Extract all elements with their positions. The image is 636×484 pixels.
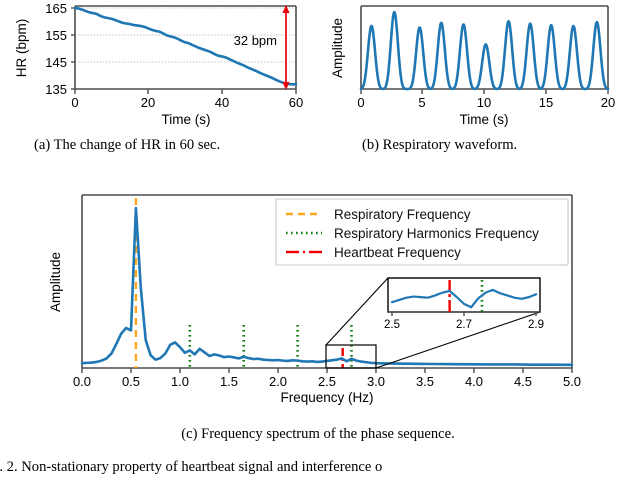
panel-c-inset-connector-left [326,278,388,345]
panel-a-annotation-label: 32 bpm [234,33,277,48]
panel-c-xaxis-label: Frequency (Hz) [280,390,373,405]
panel-b-xaxis-label: Time (s) [460,112,509,127]
panel-c-xtick-2: 1.0 [171,374,189,389]
panel-c-inset: 2.5 2.7 2.9 [384,278,544,331]
panel-a-ytick-155: 155 [45,28,67,43]
panel-a-axes [71,6,296,94]
panel-c-xtick-1: 0.5 [122,374,140,389]
panel-b-respiration-curve [361,12,608,89]
panel-a-hr-change: 165 155 145 135 0 20 40 60 Time (s) HR (… [0,0,312,128]
panel-c-yaxis-label: Amplitude [48,252,63,312]
panel-c-xtick-3: 1.5 [220,374,238,389]
panel-a-xtick-60: 60 [289,95,303,110]
panel-a-svg: 165 155 145 135 0 20 40 60 Time (s) HR (… [0,0,312,128]
caption-panel-c: (c) Frequency spectrum of the phase sequ… [60,425,576,444]
panel-c-xtick-10: 5.0 [563,374,581,389]
panel-b-svg: 0 5 10 15 20 Time (s) Amplitude [318,0,636,128]
panel-a-ytick-145: 145 [45,55,67,70]
panel-a-xtick-40: 40 [215,95,229,110]
inset-xtick-25: 2.5 [384,319,400,331]
panel-c-xtick-4: 2.0 [269,374,287,389]
panel-b-xtick-5: 5 [418,95,425,110]
panel-a-yaxis-label: HR (bpm) [14,19,29,78]
legend-label-respiratory: Respiratory Frequency [334,207,471,222]
caption-panel-a: (a) The change of HR in 60 sec. [34,136,242,155]
inset-xtick-27: 2.7 [456,319,472,331]
panel-b-xtick-20: 20 [601,95,615,110]
panel-c-xtick-7: 3.5 [416,374,434,389]
panel-c-xtick-8: 4.0 [465,374,483,389]
panel-a-xaxis-label: Time (s) [162,112,211,127]
panel-c-xtick-0: 0.0 [73,374,91,389]
panel-a-xtick-0: 0 [71,95,78,110]
panel-b-xtick-10: 10 [477,95,491,110]
panel-c-xtick-6: 3.0 [367,374,385,389]
inset-xtick-29: 2.9 [528,319,544,331]
inset-frame [388,278,540,312]
panel-a-xtick-20: 20 [141,95,155,110]
panel-c-frequency-spectrum: 0.0 0.5 1.0 1.5 2.0 2.5 3.0 3.5 4.0 4.5 … [0,190,636,405]
panel-c-xtick-9: 4.5 [514,374,532,389]
panel-c-xtick-5: 2.5 [318,374,336,389]
caption-panel-b: (b) Respiratory waveform. [362,136,612,155]
panel-c-svg: 0.0 0.5 1.0 1.5 2.0 2.5 3.0 3.5 4.0 4.5 … [0,190,636,405]
figure-main-caption: ig. 2. Non-stationary property of heartb… [0,458,636,477]
panel-b-xtick-15: 15 [539,95,553,110]
panel-b-yaxis-label: Amplitude [330,18,345,78]
panel-a-ytick-135: 135 [45,82,67,97]
panel-b-respiratory-waveform: 0 5 10 15 20 Time (s) Amplitude [318,0,636,128]
panel-c-legend: Respiratory Frequency Respiratory Harmon… [276,199,568,265]
legend-label-heartbeat: Heartbeat Frequency [334,245,461,260]
panel-a-ytick-165: 165 [45,1,67,16]
panel-b-xtick-0: 0 [357,95,364,110]
panel-a-gridlines [75,8,296,89]
legend-label-harmonics: Respiratory Harmonics Frequency [334,226,539,241]
panel-a-range-arrow [282,5,289,90]
